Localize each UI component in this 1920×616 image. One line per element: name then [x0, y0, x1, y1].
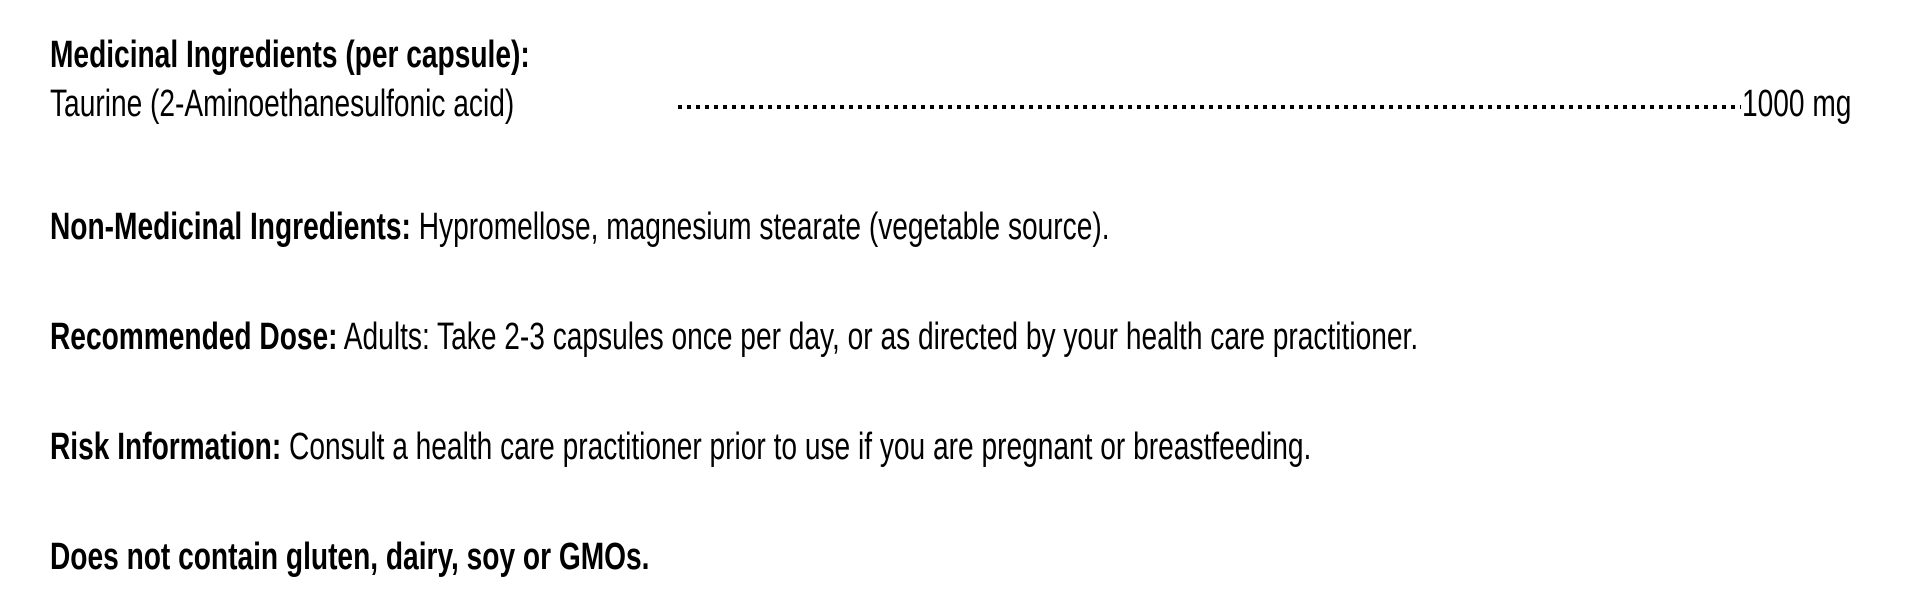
risk-information-row: Risk Information: Consult a health care … — [50, 426, 1755, 469]
dot-leader — [678, 78, 1741, 116]
recommended-dose-line: Recommended Dose: Adults: Take 2-3 capsu… — [50, 316, 1418, 359]
medicinal-ingredients-heading-text: Medicinal Ingredients (per capsule): — [50, 34, 530, 77]
risk-information-line: Risk Information: Consult a health care … — [50, 426, 1311, 469]
free-from-text: Does not contain gluten, dairy, soy or G… — [50, 536, 649, 579]
medicinal-ingredients-heading: Medicinal Ingredients (per capsule): — [50, 34, 1890, 76]
non-medicinal-ingredients-row: Non-Medicinal Ingredients: Hypromellose,… — [50, 206, 1482, 249]
ingredient-name: Taurine (2-Aminoethanesulfonic acid) — [50, 83, 677, 126]
non-medicinal-ingredients-line: Non-Medicinal Ingredients: Hypromellose,… — [50, 206, 1110, 249]
ingredient-amount: 1000 mg — [1742, 83, 1890, 126]
risk-information-label: Risk Information: — [50, 426, 281, 468]
risk-information-text: Consult a health care practitioner prior… — [281, 426, 1311, 468]
recommended-dose-label: Recommended Dose: — [50, 316, 338, 358]
recommended-dose-text: Adults: Take 2-3 capsules once per day, … — [338, 316, 1419, 358]
supplement-facts-panel: Medicinal Ingredients (per capsule): Tau… — [0, 0, 1920, 616]
non-medicinal-ingredients-text: Hypromellose, magnesium stearate (vegeta… — [411, 206, 1110, 248]
recommended-dose-row: Recommended Dose: Adults: Take 2-3 capsu… — [50, 316, 1899, 359]
free-from-row: Does not contain gluten, dairy, soy or G… — [50, 536, 860, 579]
non-medicinal-ingredients-label: Non-Medicinal Ingredients: — [50, 206, 411, 248]
ingredient-line: Taurine (2-Aminoethanesulfonic acid) 100… — [50, 78, 1890, 124]
